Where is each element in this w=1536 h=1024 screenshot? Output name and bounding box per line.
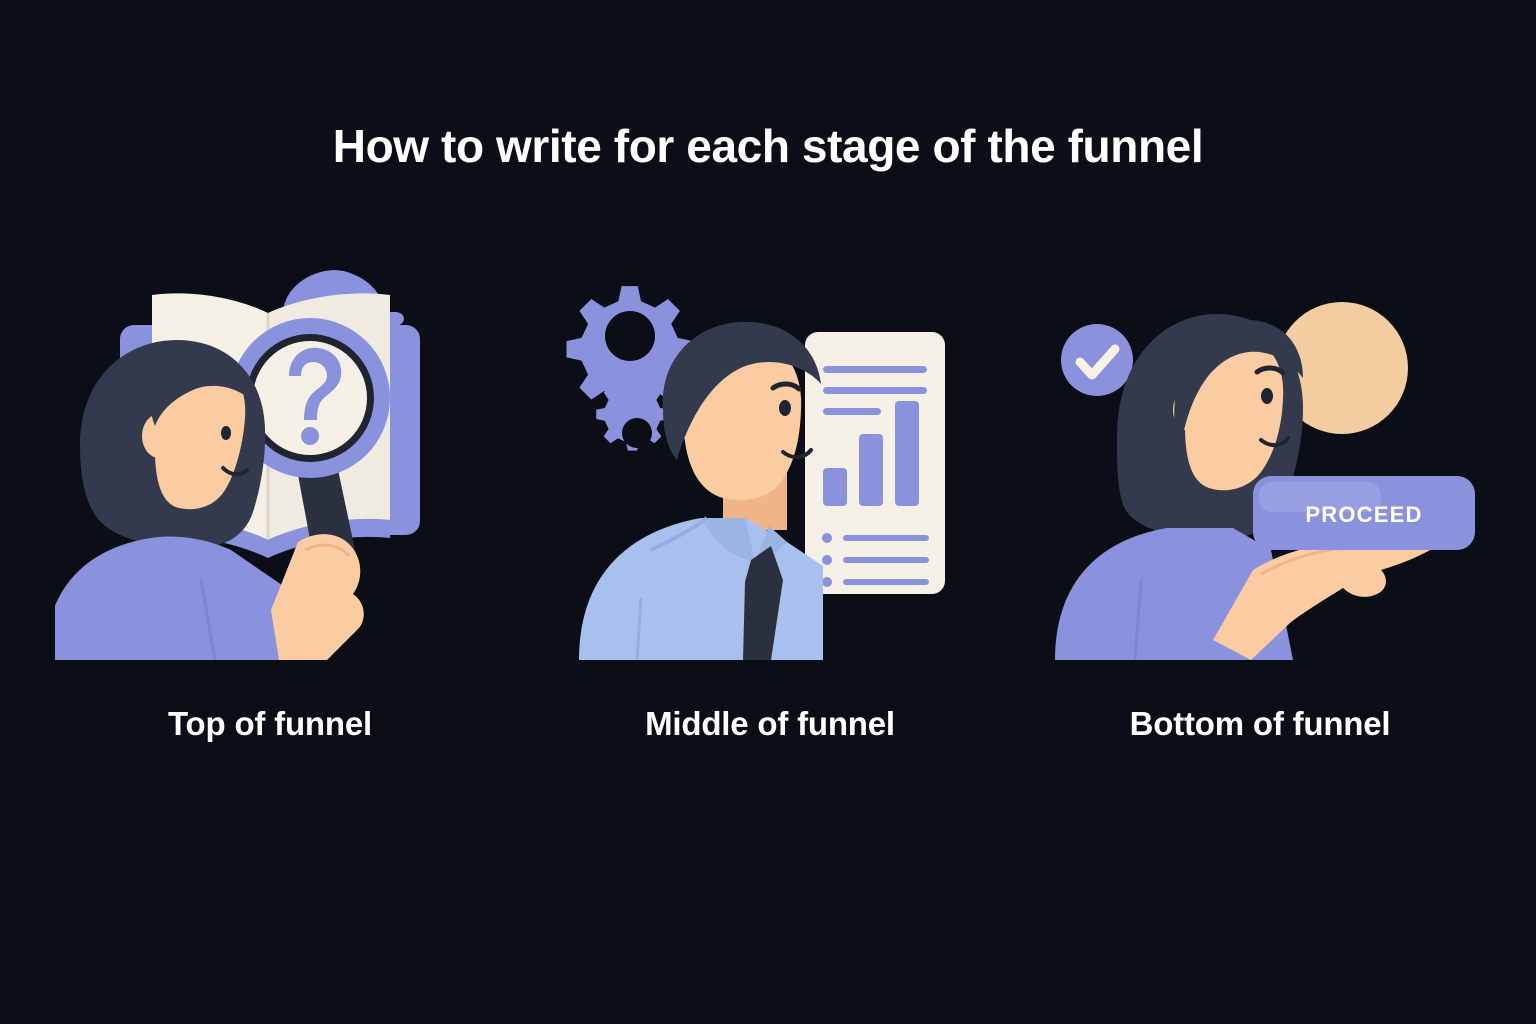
bar-2 [859, 434, 883, 506]
page-title: How to write for each stage of the funne… [0, 121, 1536, 172]
gear-small-icon [596, 378, 669, 451]
woman-hand-icon [271, 534, 364, 660]
stage-card-bottom-of-funnel: PROCEED Bottom of funnel [1045, 250, 1475, 810]
stage-columns: Top of funnel [0, 250, 1536, 810]
stage-card-middle-of-funnel: Middle of funnel [555, 250, 985, 810]
stage-card-top-of-funnel: Top of funnel [55, 250, 485, 810]
bar-1 [823, 468, 847, 506]
proceed-button-label: PROCEED [1305, 502, 1422, 527]
illustration-man-with-gears-and-report [555, 250, 985, 660]
man-eye-icon [779, 400, 791, 416]
bar-3 [895, 401, 919, 506]
stage-caption-top-of-funnel: Top of funnel [55, 705, 485, 743]
proceed-button[interactable]: PROCEED [1253, 476, 1475, 550]
woman-eye-icon [221, 426, 231, 440]
illustration-woman-clicking-proceed-button: PROCEED [1045, 250, 1475, 660]
document-sheet-icon [805, 332, 945, 594]
infographic-canvas: How to write for each stage of the funne… [0, 0, 1536, 1024]
check-badge-icon [1061, 324, 1133, 396]
man-shirt-icon [579, 518, 823, 660]
illustration-woman-reading-book-with-magnifier [55, 250, 485, 660]
woman-eye-icon [1261, 388, 1273, 404]
stage-caption-bottom-of-funnel: Bottom of funnel [1045, 705, 1475, 743]
stage-caption-middle-of-funnel: Middle of funnel [555, 705, 985, 743]
